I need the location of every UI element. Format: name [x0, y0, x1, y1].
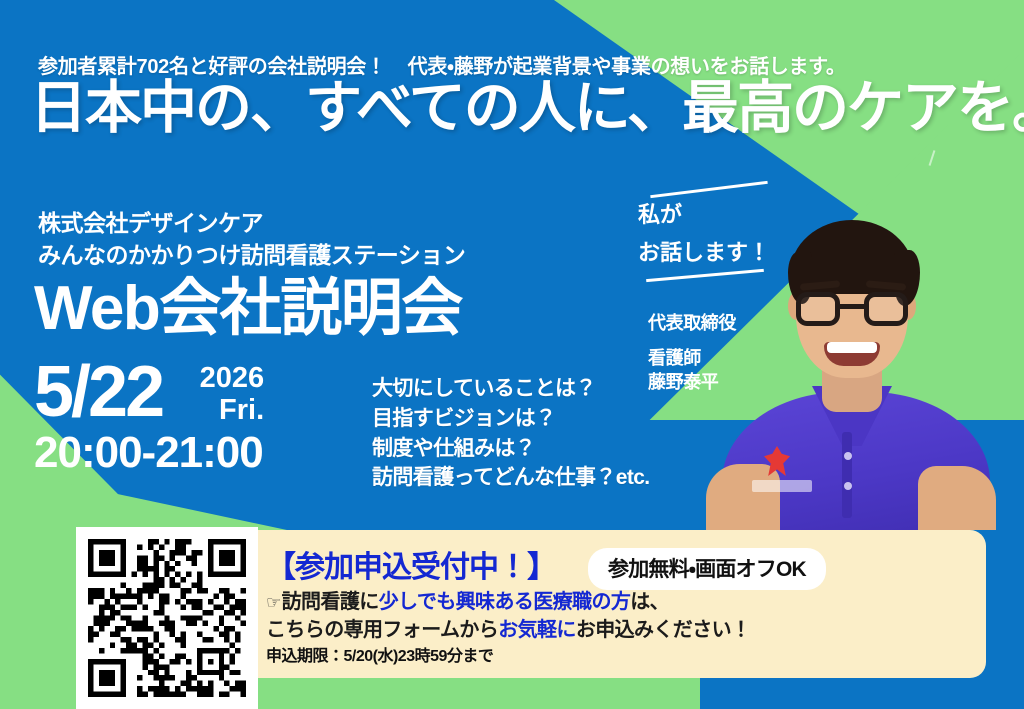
line1-post: は、 — [630, 591, 669, 613]
date-block: 5/22 2026 Fri. 20:00-21:00 — [34, 358, 264, 475]
speaker-license: 看護師 — [648, 347, 736, 371]
event-year-weekday: 2026 Fri. — [178, 362, 264, 427]
line2-pre: こちらの専用フォームから — [266, 619, 498, 641]
hero-headline: 日本中の、すべての人に、最高のケアを。 — [30, 78, 1024, 140]
free-entry-badge: 参加無料・画面オフOK — [588, 548, 826, 590]
lede-left-text: 参加者累計702名と好評の会社説明会！ — [38, 56, 386, 78]
smiling-mouth — [824, 342, 880, 366]
date-row: 5/22 2026 Fri. — [34, 358, 264, 427]
event-weekday: Fri. — [178, 394, 264, 426]
callout-line-2: お話します！ — [638, 238, 770, 267]
shirt-placket — [842, 432, 852, 518]
service-name: みんなのかかりつけ訪問看護ステーション — [38, 240, 465, 272]
lede-strip: 参加者累計702名と好評の会社説明会！代表・藤野が起業背景や事業の想いをお話しま… — [38, 50, 846, 79]
topic-item: 大切にしていることは？ — [372, 374, 650, 404]
glasses-right-lens — [864, 292, 908, 326]
speaker-role: 代表取締役 — [648, 312, 736, 336]
poster-canvas: 参加者累計702名と好評の会社説明会！代表・藤野が起業背景や事業の想いをお話しま… — [0, 0, 1024, 709]
right-arm — [918, 466, 996, 530]
banner-title: 【参加申込受付中！】 — [266, 542, 556, 586]
speaker-name: 藤野泰平 — [648, 371, 736, 395]
speaker-callout: 私が お話します！ — [636, 188, 770, 277]
topic-item: 訪問看護ってどんな仕事？etc. — [372, 463, 650, 493]
glasses-bridge — [840, 304, 866, 309]
pointing-hand-icon: ☞ — [266, 591, 281, 615]
banner-body-line-1: ☞訪問看護に少しでも興味ある医療職の方は、 — [266, 588, 750, 616]
lede-right-text: 代表・藤野が起業背景や事業の想いをお話します。 — [408, 56, 846, 78]
glasses-left-lens — [796, 292, 840, 326]
application-deadline: 申込期限：5/20(水)23時59分まで — [266, 642, 493, 666]
line1-strong: 少しでも興味ある医療職の方 — [379, 591, 631, 613]
event-time: 20:00-21:00 — [34, 431, 264, 475]
banner-body-line-2: こちらの専用フォームからお気軽にお申込みください！ — [266, 616, 750, 644]
event-title: Web会社説明会 — [34, 278, 462, 340]
event-date: 5/22 — [34, 358, 162, 426]
banner-body: ☞訪問看護に少しでも興味ある医療職の方は、 こちらの専用フォームからお気軽にお申… — [266, 588, 750, 645]
topic-item: 制度や仕組みは？ — [372, 434, 650, 464]
qr-code-canvas[interactable] — [88, 539, 246, 697]
qr-code[interactable] — [76, 527, 258, 709]
line2-strong: お気軽に — [498, 619, 576, 641]
event-year: 2026 — [178, 362, 264, 394]
line2-post: お申込みください！ — [576, 619, 751, 641]
speaker-meta: 代表取締役 看護師 藤野泰平 — [648, 312, 736, 395]
shirt-button — [844, 482, 852, 490]
topic-item: 目指すビジョンは？ — [372, 404, 650, 434]
shirt-logo-text — [752, 480, 812, 492]
line1-pre: 訪問看護に — [282, 591, 379, 613]
teeth — [827, 342, 877, 353]
company-block: 株式会社デザインケア みんなのかかりつけ訪問看護ステーション — [38, 208, 465, 271]
callout-line-1: 私が — [638, 200, 770, 229]
topic-list: 大切にしていることは？ 目指すビジョンは？ 制度や仕組みは？ 訪問看護ってどんな… — [372, 374, 650, 493]
corporate-name: 株式会社デザインケア — [38, 208, 465, 240]
shirt-button — [844, 452, 852, 460]
